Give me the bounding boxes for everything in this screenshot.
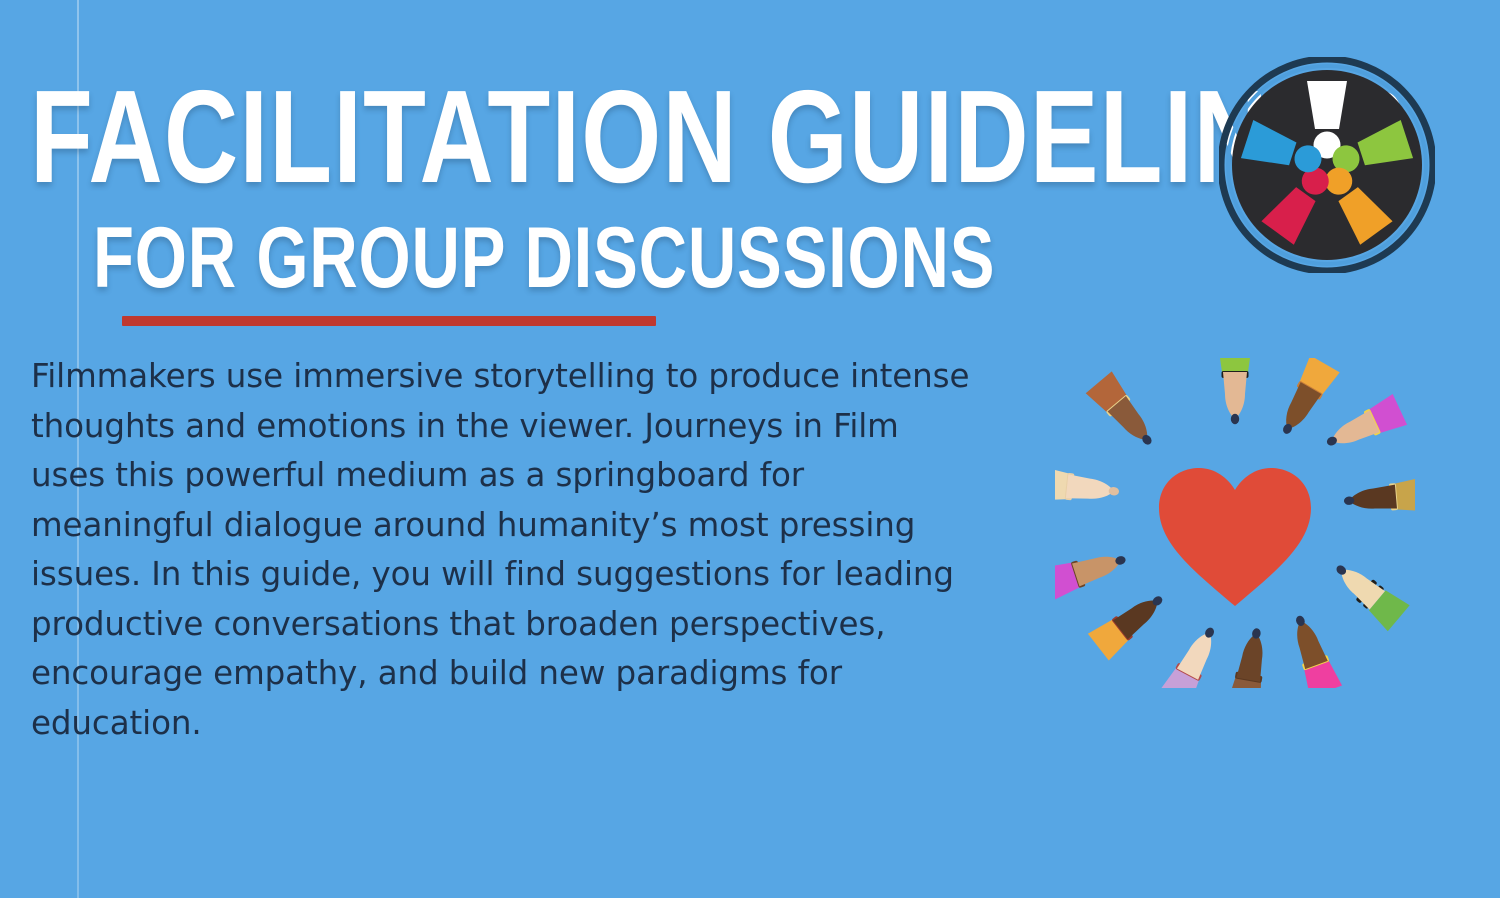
heart-shape [1159, 468, 1311, 606]
hands-around-heart-illustration [1055, 358, 1415, 688]
page-title: FACILITATION GUIDELINES [30, 72, 810, 201]
page-subtitle: FOR GROUP DISCUSSIONS [93, 215, 824, 301]
journeys-in-film-logo-icon [1219, 57, 1435, 273]
facilitation-guidelines-poster: FACILITATION GUIDELINES FOR GROUP DISCUS… [0, 0, 1500, 898]
accent-rule-divider [122, 316, 656, 326]
headline-block: FACILITATION GUIDELINES FOR GROUP DISCUS… [30, 72, 1030, 301]
intro-paragraph: Filmmakers use immersive storytelling to… [31, 352, 971, 748]
